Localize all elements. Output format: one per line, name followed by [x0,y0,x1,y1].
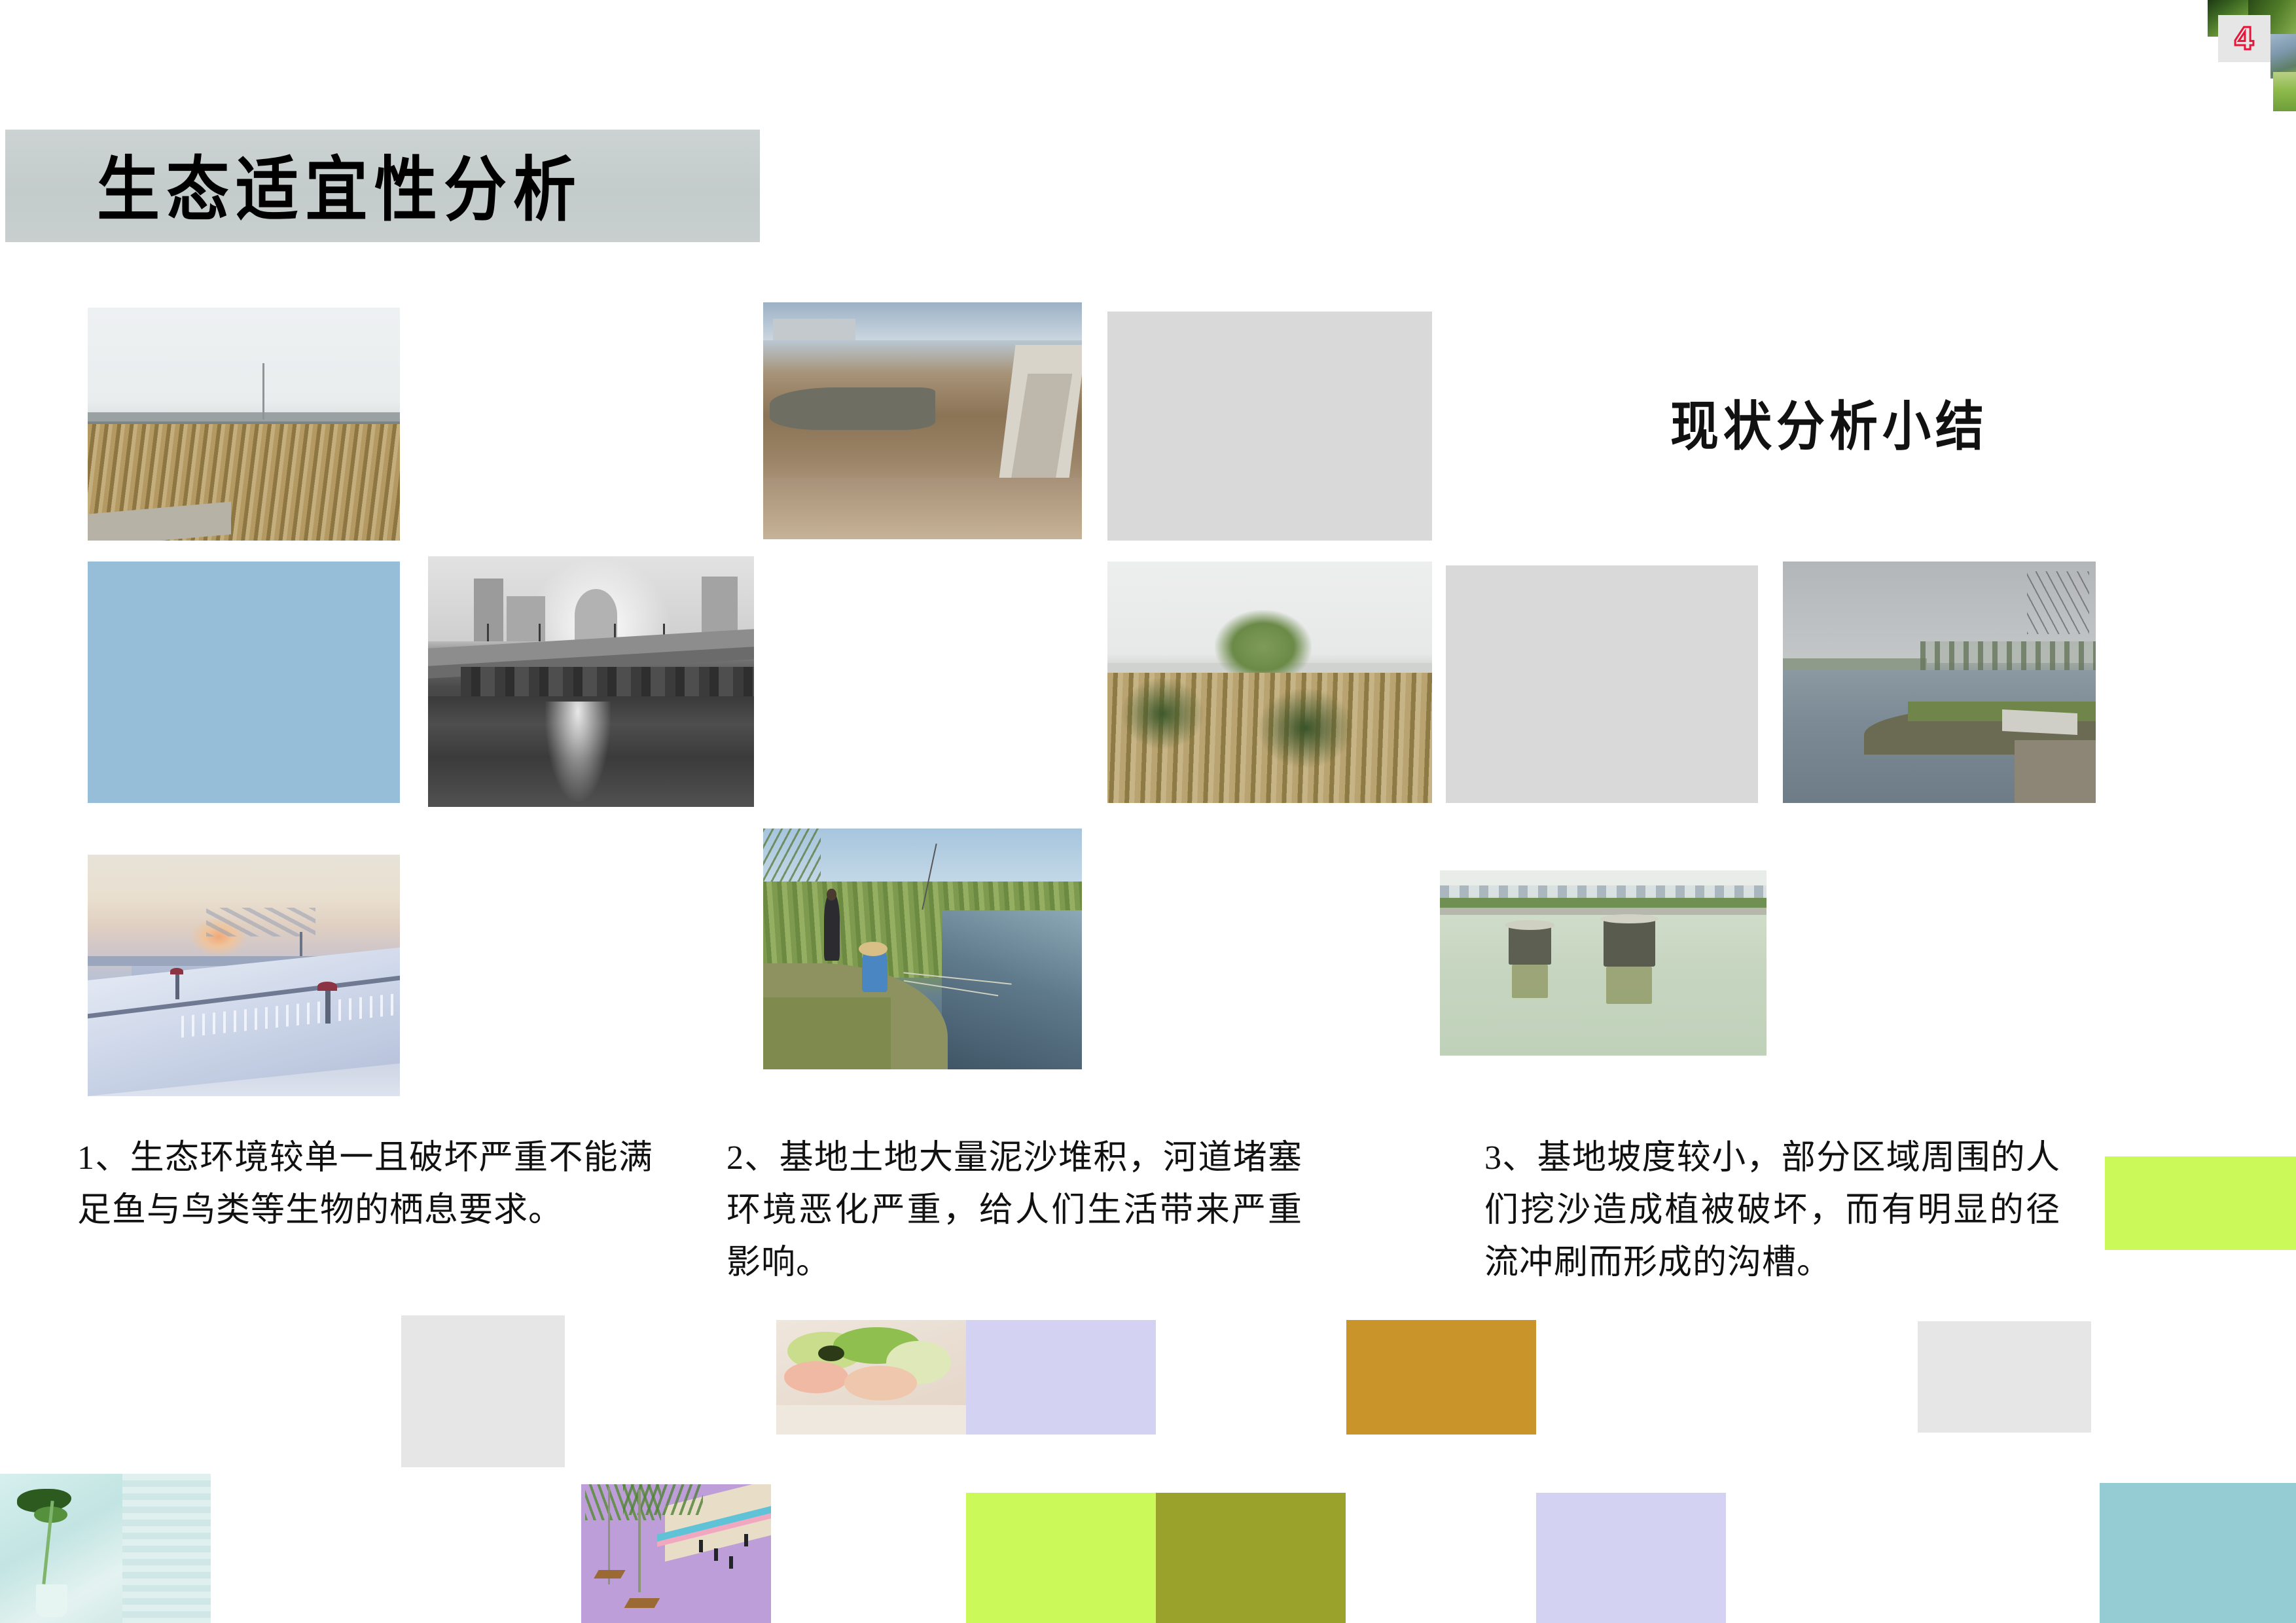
foliage-decoration-icon [2273,72,2296,111]
photo-river-piers [1440,870,1767,1056]
summary-paragraph-3: 3、基地坡度较小，部分区域周围的人们挖沙造成植被破坏，而有明显的径流冲刷而形成的… [1484,1132,2060,1289]
tile-lime-right [2105,1156,2296,1250]
summary-heading: 现状分析小结 [1670,398,1988,455]
tile-gray-left [401,1315,565,1467]
page-number-text: 4 [2234,24,2255,54]
page-title: 生态适宜性分析 [97,152,583,228]
photo-fishermen [763,829,1082,1069]
photo-placeholder-blue [88,562,400,803]
page-number-box: 4 [2218,15,2270,62]
photo-silted-riverbed [763,302,1082,539]
photo-placeholder-gray-1 [1107,312,1432,541]
slide-canvas: 4 生态适宜性分析 现状分析小结 [0,0,2296,1623]
photo-placeholder-gray-2 [1446,565,1758,803]
tile-gold [1346,1320,1536,1435]
tile-flowers [776,1320,966,1435]
photo-river-shore [1783,562,2096,803]
tile-teal-photo [0,1474,211,1623]
tile-teal-right [2100,1483,2296,1623]
tile-lavender-2 [1536,1493,1726,1623]
page-number-badge: 4 [2208,0,2296,111]
summary-paragraph-1: 1、生态环境较单一且破坏严重不能满足鱼与鸟类等生物的栖息要求。 [77,1132,653,1237]
photo-reeds-tree [1107,562,1432,803]
tile-lavender [966,1320,1156,1435]
photo-reeds-bridge [88,308,400,541]
photo-city-bridge-bw [428,556,754,807]
photo-winter-sunset [88,855,400,1096]
tile-lime-mid [966,1493,1156,1623]
summary-paragraph-2: 2、基地土地大量泥沙堆积，河道堵塞环境恶化严重，给人们生活带来严重影响。 [726,1132,1302,1289]
tile-olive [1156,1493,1346,1623]
tile-gray-right [1918,1321,2091,1433]
tile-render [581,1484,771,1623]
